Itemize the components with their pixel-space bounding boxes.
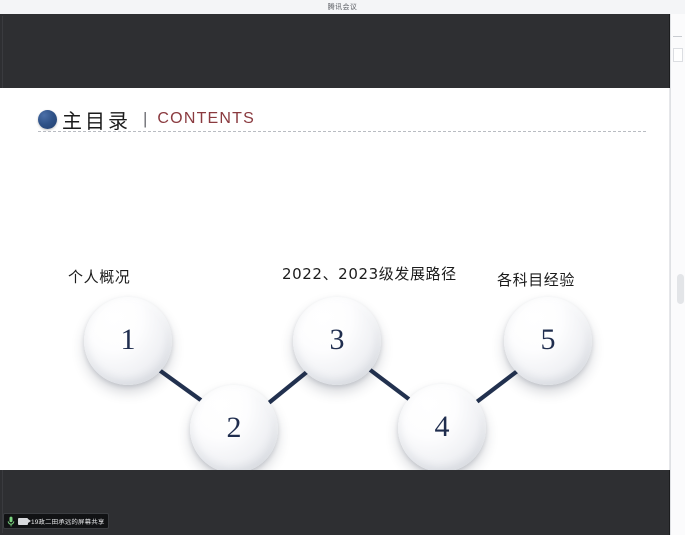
node-label: 各科目经验 xyxy=(497,269,575,290)
process-node[interactable]: 3 xyxy=(293,297,381,385)
rail-button[interactable] xyxy=(673,48,683,62)
node-number: 4 xyxy=(435,412,450,442)
app-title: 腾讯会议 xyxy=(328,2,358,12)
node-number: 1 xyxy=(121,325,136,355)
screen-share-status-badge[interactable]: 19政二田承远的屏幕共享 xyxy=(3,513,109,529)
node-number: 3 xyxy=(330,325,345,355)
share-status-text: 19政二田承远的屏幕共享 xyxy=(31,516,104,526)
process-node[interactable]: 2 xyxy=(190,385,278,470)
node-label: 2022、2023级发展路径 xyxy=(282,263,457,284)
app-titlebar: 腾讯会议 xyxy=(0,0,685,14)
camera-icon[interactable] xyxy=(18,518,28,525)
node-number: 2 xyxy=(227,413,242,443)
microphone-icon[interactable] xyxy=(7,516,15,527)
shared-slide: 主目录 | CONTENTS 1 2 3 4 xyxy=(0,88,670,470)
right-rail xyxy=(670,14,685,535)
meeting-backdrop-top xyxy=(0,14,670,88)
vertical-scrollbar-thumb[interactable] xyxy=(677,274,684,304)
node-label: 个人概况 xyxy=(68,266,130,287)
process-diagram: 1 2 3 4 5 个人概况 2020级冲刺策略 2022、2023级发展路径 … xyxy=(0,88,670,470)
process-node[interactable]: 5 xyxy=(504,297,592,385)
process-node[interactable]: 1 xyxy=(84,297,172,385)
node-number: 5 xyxy=(541,325,556,355)
process-node[interactable]: 4 xyxy=(398,384,486,470)
rail-marker xyxy=(673,36,682,37)
